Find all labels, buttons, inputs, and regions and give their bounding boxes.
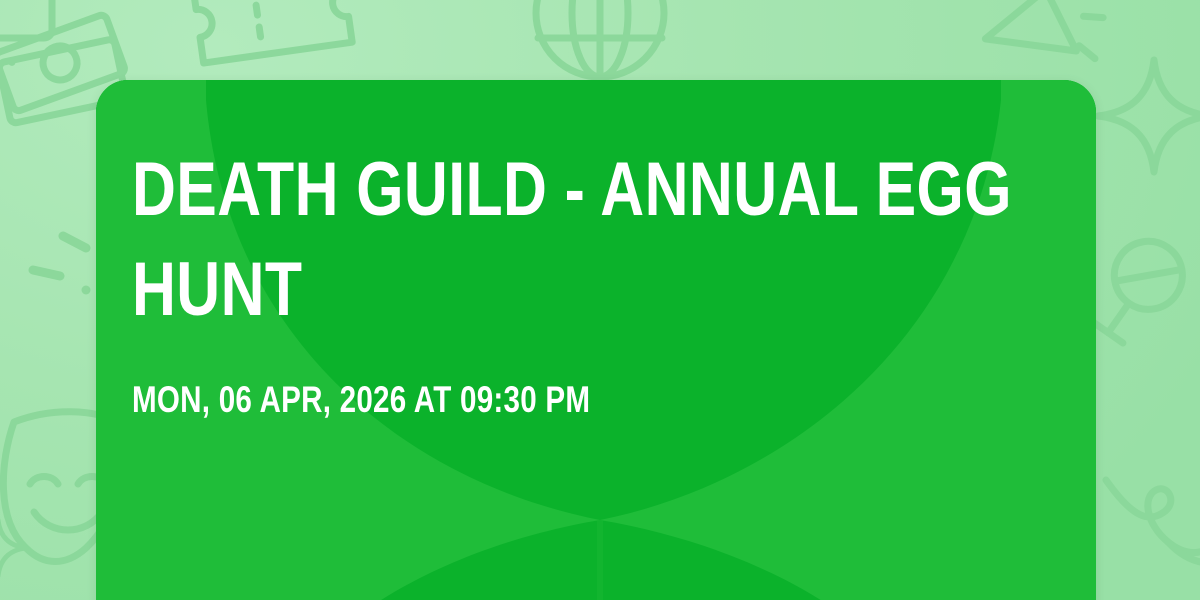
party-popper-icon xyxy=(985,0,1123,89)
event-card-stage: Death Guild - Annual Egg Hunt Mon, 06 Ap… xyxy=(0,0,1200,600)
card-content: Death Guild - Annual Egg Hunt Mon, 06 Ap… xyxy=(132,140,1056,420)
microphone-icon xyxy=(1080,228,1195,352)
confetti-dash-icon xyxy=(33,236,86,290)
event-card[interactable]: Death Guild - Annual Egg Hunt Mon, 06 Ap… xyxy=(96,80,1096,600)
globe-icon xyxy=(536,0,664,77)
streamer-ribbon-icon xyxy=(1106,480,1200,563)
event-date: Mon, 06 Apr, 2026 at 09:30 PM xyxy=(132,380,1028,420)
ticket-icon xyxy=(193,0,353,63)
event-title: Death Guild - Annual Egg Hunt xyxy=(132,140,1028,340)
sparkle-icon xyxy=(1098,60,1200,172)
